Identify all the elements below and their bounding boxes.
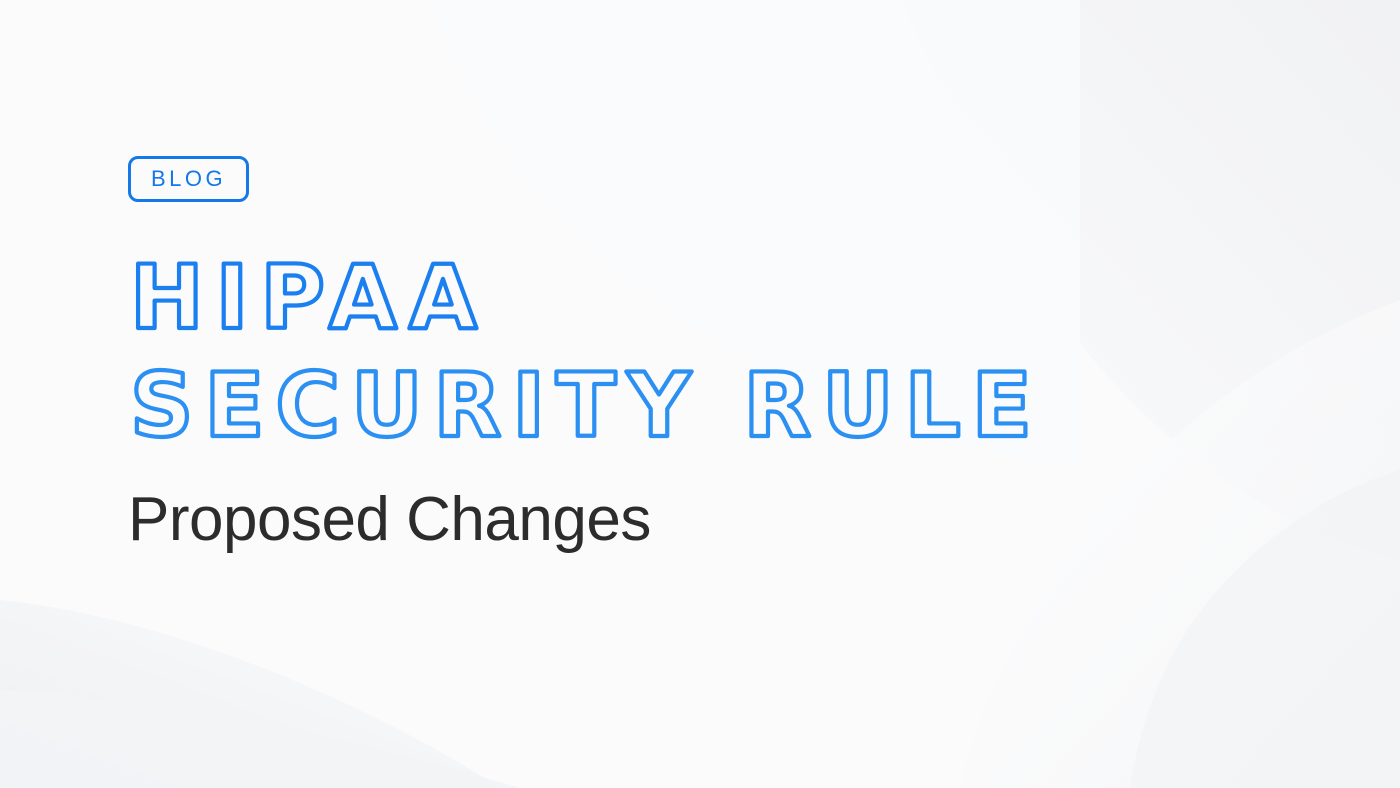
hero-banner: BLOG HIPAA SECURITY RULE Proposed Change… [0,0,1400,788]
headline-outline-svg: HIPAA SECURITY RULE [128,250,1128,470]
background-wave-bottom-left [0,600,500,788]
hero-content: BLOG HIPAA SECURITY RULE Proposed Change… [128,156,1228,554]
background-band-lower [0,690,520,788]
headline-line-2: SECURITY RULE [130,354,1043,457]
page-subtitle: Proposed Changes [128,486,1228,554]
headline: HIPAA SECURITY RULE [128,250,1228,470]
blog-badge-label: BLOG [151,168,226,190]
headline-line-1: HIPAA [130,250,489,349]
blog-badge[interactable]: BLOG [128,156,249,202]
